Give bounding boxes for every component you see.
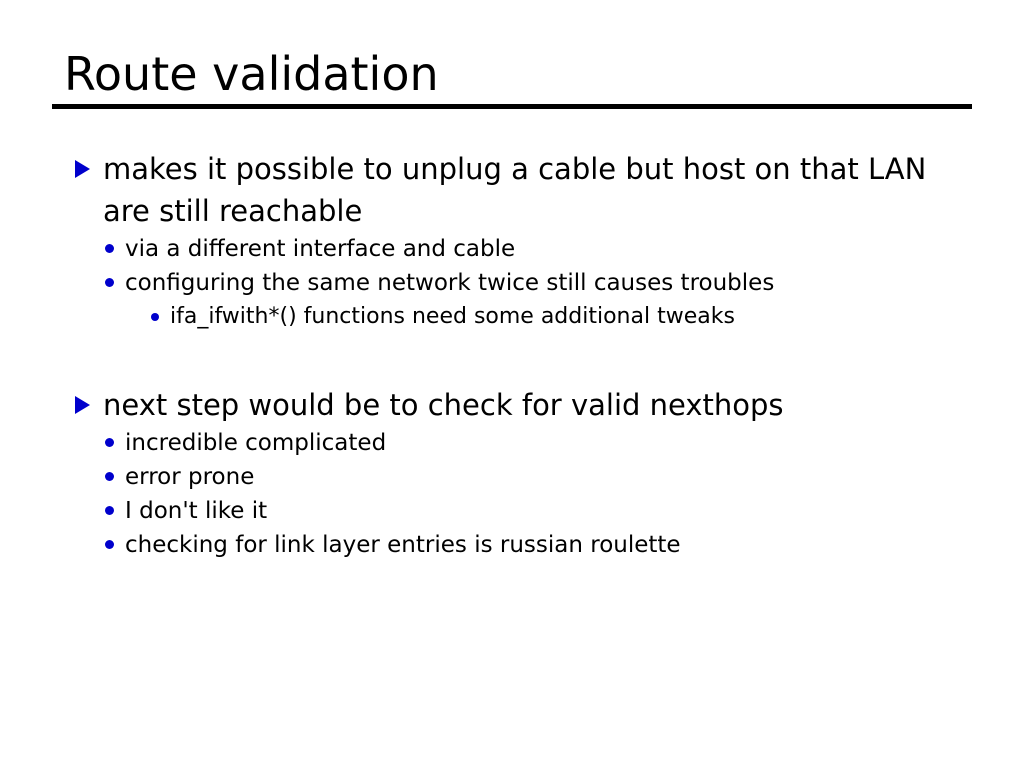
outline-item-text: ifa_ifwith*() functions need some additi… <box>170 300 964 334</box>
triangle-bullet-icon <box>75 396 90 414</box>
slide: Route validation makes it possible to un… <box>0 0 1024 768</box>
outline-item-text: makes it possible to unplug a cable but … <box>103 148 964 232</box>
dot-bullet-icon <box>105 506 114 515</box>
outline-item-text: configuring the same network twice still… <box>125 266 964 300</box>
title-divider <box>52 104 972 109</box>
title-block: Route validation <box>52 48 972 109</box>
outline-item-text: incredible complicated <box>125 426 964 460</box>
outline-item-text: checking for link layer entries is russi… <box>125 528 964 562</box>
outline-group-spacer <box>0 334 1024 384</box>
triangle-bullet-icon <box>75 160 90 178</box>
outline-item-level2: configuring the same network twice still… <box>0 266 1024 300</box>
outline-item-level1: next step would be to check for valid ne… <box>0 384 1024 426</box>
outline-body: makes it possible to unplug a cable but … <box>0 148 1024 562</box>
outline-item-text: next step would be to check for valid ne… <box>103 384 964 426</box>
outline-item-text: error prone <box>125 460 964 494</box>
page-title: Route validation <box>52 48 972 100</box>
outline-item-text: via a different interface and cable <box>125 232 964 266</box>
outline-item-level2: via a different interface and cable <box>0 232 1024 266</box>
outline-item-text: I don't like it <box>125 494 964 528</box>
dot-bullet-icon <box>105 472 114 481</box>
dot-bullet-icon <box>105 278 114 287</box>
outline-item-level3: ifa_ifwith*() functions need some additi… <box>0 300 1024 334</box>
dot-bullet-icon <box>105 438 114 447</box>
dot-bullet-icon <box>105 244 114 253</box>
outline-item-level2: incredible complicated <box>0 426 1024 460</box>
dot-bullet-icon <box>105 540 114 549</box>
outline-item-level2: checking for link layer entries is russi… <box>0 528 1024 562</box>
outline-item-level1: makes it possible to unplug a cable but … <box>0 148 1024 232</box>
outline-item-level2: error prone <box>0 460 1024 494</box>
outline-item-level2: I don't like it <box>0 494 1024 528</box>
dot-bullet-icon <box>151 313 159 321</box>
